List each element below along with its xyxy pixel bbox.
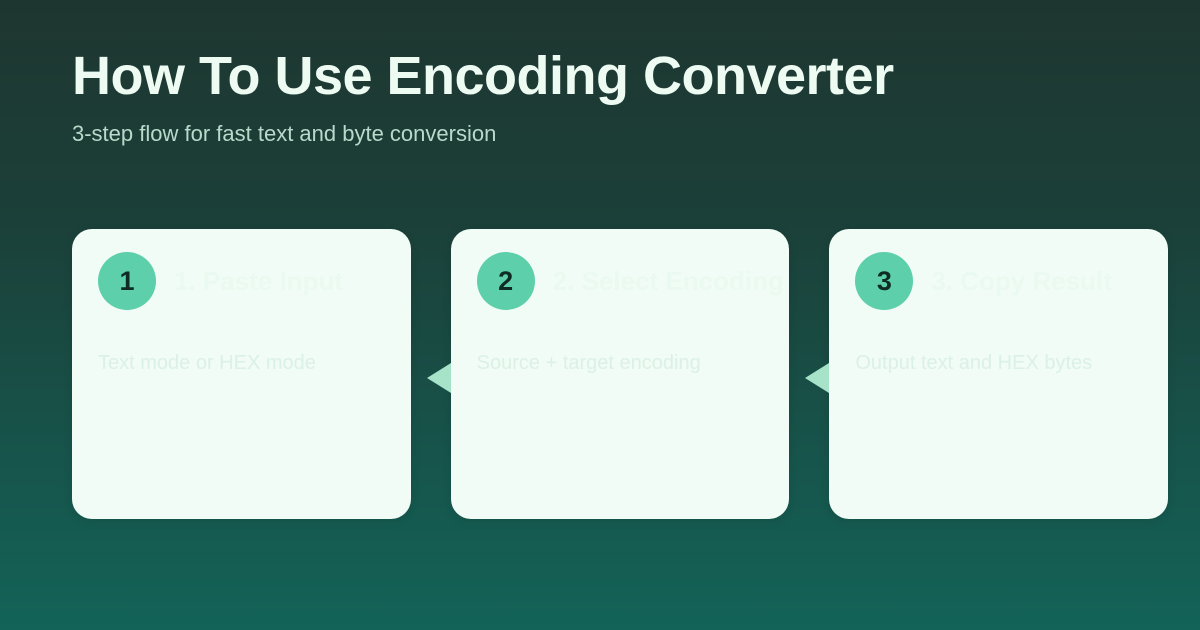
step-badge-2: 2 <box>477 252 535 310</box>
step-title-1: 1. Paste Input <box>174 266 385 297</box>
infographic-poster: How To Use Encoding Converter 3-step flo… <box>0 0 1200 630</box>
step-card-1-head: 1 1. Paste Input <box>98 252 385 310</box>
step-connector-arrow-icon-2 <box>805 363 829 393</box>
step-card-2-head: 2 2. Select Encoding <box>477 252 764 310</box>
step-description-3: Output text and HEX bytes <box>855 350 1142 376</box>
step-card-3-head: 3 3. Copy Result <box>855 252 1142 310</box>
steps-container: 1 1. Paste Input Text mode or HEX mode 2… <box>72 229 1168 519</box>
step-title-2: 2. Select Encoding <box>553 266 784 297</box>
step-connector-arrow-icon-1 <box>427 363 451 393</box>
step-card-1: 1 1. Paste Input Text mode or HEX mode <box>72 229 411 519</box>
step-description-1: Text mode or HEX mode <box>98 350 385 376</box>
page-subtitle: 3-step flow for fast text and byte conve… <box>72 120 1132 148</box>
page-title: How To Use Encoding Converter <box>72 46 1132 106</box>
poster-header: How To Use Encoding Converter 3-step flo… <box>72 46 1132 148</box>
step-title-3: 3. Copy Result <box>931 266 1142 297</box>
step-description-2: Source + target encoding <box>477 350 764 376</box>
step-badge-3: 3 <box>855 252 913 310</box>
step-card-3: 3 3. Copy Result Output text and HEX byt… <box>829 229 1168 519</box>
step-badge-1: 1 <box>98 252 156 310</box>
step-card-2: 2 2. Select Encoding Source + target enc… <box>451 229 790 519</box>
